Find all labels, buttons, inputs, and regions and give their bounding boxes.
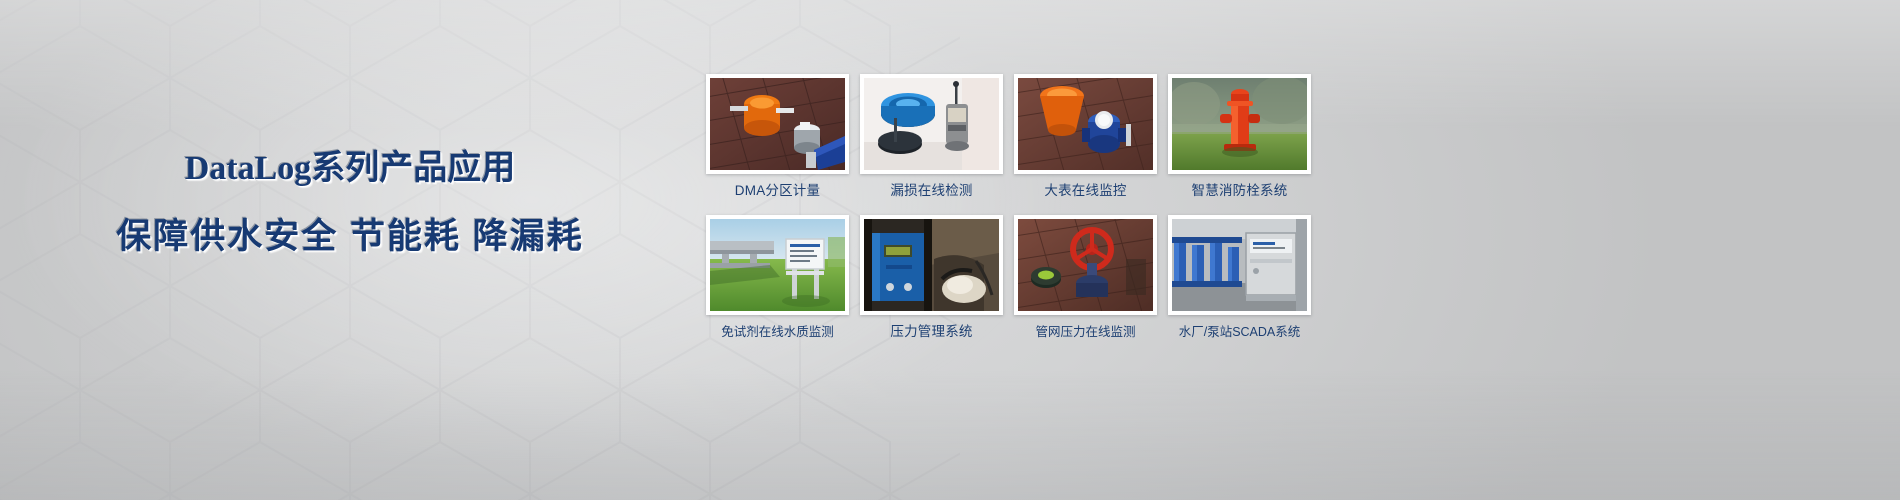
grid-item-caption: 智慧消防栓系统 — [1168, 183, 1311, 199]
grid-item[interactable]: 压力管理系统 — [860, 215, 1003, 340]
thumbnail-frame[interactable] — [706, 215, 849, 315]
grid-item[interactable]: 智慧消防栓系统 — [1168, 74, 1311, 199]
grid-item[interactable]: 水厂/泵站SCADA系统 — [1168, 215, 1311, 340]
grid-item-caption: 水厂/泵站SCADA系统 — [1168, 324, 1311, 340]
grid-item[interactable]: 大表在线监控 — [1014, 74, 1157, 199]
grid-item-caption: DMA分区计量 — [706, 183, 849, 199]
grid-item[interactable]: 免试剂在线水质监测 — [706, 215, 849, 340]
grid-item-caption: 大表在线监控 — [1014, 183, 1157, 199]
promo-banner: DataLog系列产品应用 保障供水安全 节能耗 降漏耗 — [0, 0, 1900, 500]
reagent-free-water-quality-photo — [710, 219, 845, 311]
thumbnail-frame[interactable] — [860, 74, 1003, 174]
grid-item[interactable]: 管网压力在线监测 — [1014, 215, 1157, 340]
thumbnail-frame[interactable] — [860, 215, 1003, 315]
grid-item-caption: 漏损在线检测 — [860, 183, 1003, 199]
headline-line-1: DataLog系列产品应用 — [0, 146, 700, 192]
large-meter-online-monitoring-photo — [1018, 78, 1153, 170]
thumbnail-frame[interactable] — [1168, 74, 1311, 174]
product-application-grid: DMA分区计量 — [706, 74, 1311, 340]
pressure-management-system-photo — [864, 219, 999, 311]
thumbnail-frame[interactable] — [1014, 74, 1157, 174]
thumbnail-frame[interactable] — [1014, 215, 1157, 315]
waterworks-pump-scada-photo — [1172, 219, 1307, 311]
headline-block: DataLog系列产品应用 保障供水安全 节能耗 降漏耗 — [0, 146, 700, 262]
thumbnail-frame[interactable] — [706, 74, 849, 174]
leak-online-detection-photo — [864, 78, 999, 170]
pipe-network-pressure-photo — [1018, 219, 1153, 311]
headline-line-2: 保障供水安全 节能耗 降漏耗 — [0, 212, 700, 262]
smart-fire-hydrant-photo — [1172, 78, 1307, 170]
grid-item-caption: 免试剂在线水质监测 — [706, 324, 849, 340]
grid-item-caption: 管网压力在线监测 — [1014, 324, 1157, 340]
grid-item[interactable]: 漏损在线检测 — [860, 74, 1003, 199]
grid-item-caption: 压力管理系统 — [860, 324, 1003, 340]
dma-zone-metering-photo — [710, 78, 845, 170]
thumbnail-frame[interactable] — [1168, 215, 1311, 315]
grid-item[interactable]: DMA分区计量 — [706, 74, 849, 199]
